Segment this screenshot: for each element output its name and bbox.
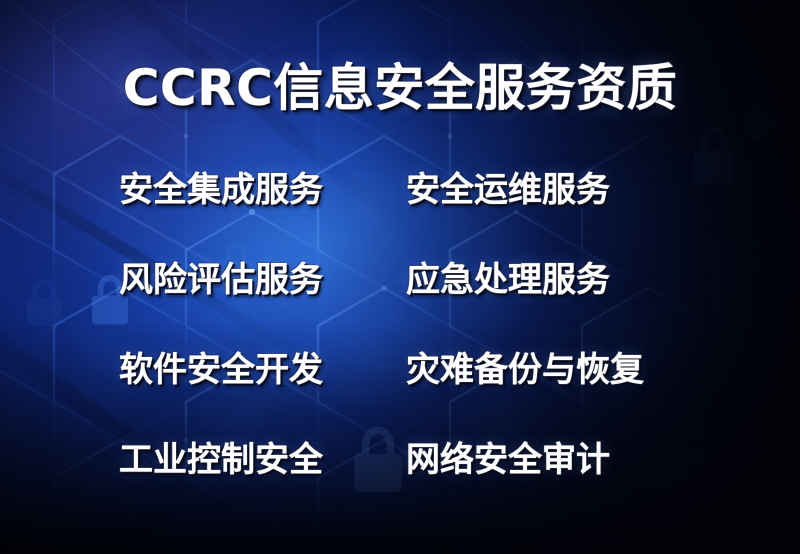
service-row: 工业控制安全 网络安全审计	[0, 442, 800, 532]
service-row: 风险评估服务 应急处理服务	[0, 262, 800, 352]
service-item-security-operations: 安全运维服务	[406, 172, 681, 208]
page-title: CCRC信息安全服务资质	[0, 62, 800, 114]
service-item-software-security-development: 软件安全开发	[119, 352, 351, 388]
service-item-emergency-response: 应急处理服务	[406, 262, 681, 298]
service-item-industrial-control-security: 工业控制安全	[119, 442, 351, 478]
service-item-network-security-audit: 网络安全审计	[406, 442, 681, 478]
service-row: 安全集成服务 安全运维服务	[0, 172, 800, 262]
service-list: 安全集成服务 安全运维服务 风险评估服务 应急处理服务 软件安全开发 灾难备份与…	[0, 172, 800, 532]
service-item-disaster-recovery: 灾难备份与恢复	[406, 352, 681, 388]
service-item-risk-assessment: 风险评估服务	[119, 262, 351, 298]
ccrc-qualification-poster: CCRC信息安全服务资质 安全集成服务 安全运维服务 风险评估服务 应急处理服务…	[0, 0, 800, 554]
service-row: 软件安全开发 灾难备份与恢复	[0, 352, 800, 442]
poster-content: CCRC信息安全服务资质 安全集成服务 安全运维服务 风险评估服务 应急处理服务…	[0, 0, 800, 554]
service-item-security-integration: 安全集成服务	[119, 172, 351, 208]
